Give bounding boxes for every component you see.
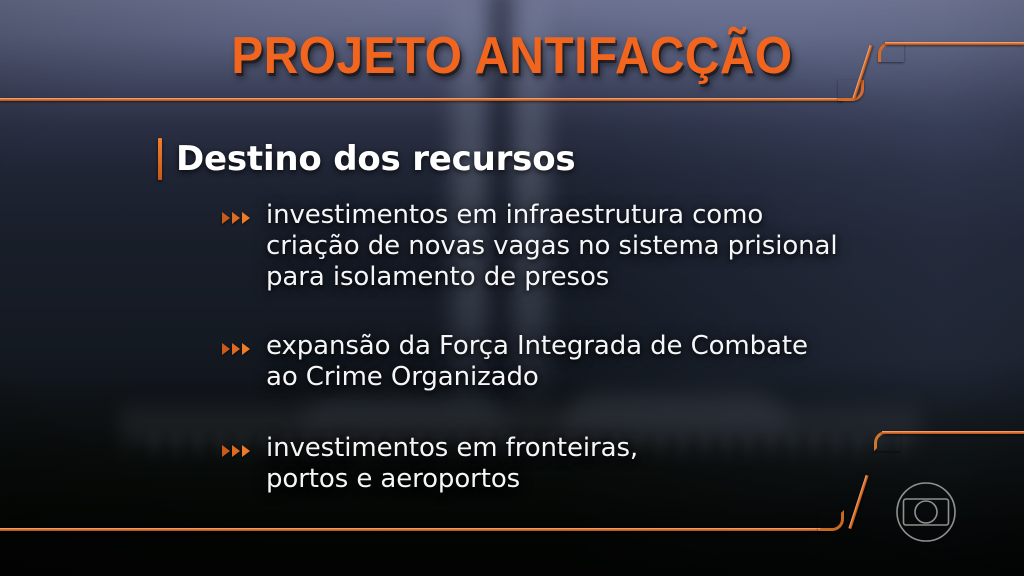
chevron-right-icon bbox=[222, 212, 230, 224]
bottom-rule-left-segment bbox=[0, 528, 822, 531]
list-item-text: investimentos em fronteiras, portos e ae… bbox=[266, 433, 638, 495]
globo-inner-circle bbox=[915, 501, 937, 523]
bullet-list: investimentos em infraestrutura como cri… bbox=[222, 200, 982, 495]
chevron-right-icon bbox=[222, 445, 230, 457]
globo-logo bbox=[895, 481, 957, 543]
broadcast-lower-third-graphic: PROJETO ANTIFACÇÃO Destino dos recursos … bbox=[0, 0, 1024, 576]
triple-chevron-icon bbox=[222, 331, 266, 361]
chevron-right-icon bbox=[232, 445, 240, 457]
list-item: investimentos em fronteiras, portos e ae… bbox=[222, 433, 982, 495]
globo-outer-circle bbox=[897, 483, 955, 541]
chevron-right-icon bbox=[242, 343, 250, 355]
bottom-rule-upper-corner bbox=[874, 431, 900, 451]
bottom-rule-right-segment bbox=[882, 431, 1024, 434]
chevron-right-icon bbox=[232, 212, 240, 224]
subtitle-row: Destino dos recursos bbox=[158, 138, 575, 180]
list-item: investimentos em infraestrutura como cri… bbox=[222, 200, 982, 293]
chevron-right-icon bbox=[222, 343, 230, 355]
list-item: expansão da Força Integrada de Combate a… bbox=[222, 331, 982, 393]
chevron-right-icon bbox=[242, 212, 250, 224]
chevron-right-icon bbox=[232, 343, 240, 355]
triple-chevron-icon bbox=[222, 433, 266, 463]
subtitle-label: Destino dos recursos bbox=[176, 139, 575, 179]
list-item-text: investimentos em infraestrutura como cri… bbox=[266, 200, 838, 293]
bottom-rule-lower-corner bbox=[818, 510, 844, 531]
globo-rectangle bbox=[904, 499, 949, 525]
headline-title: PROJETO ANTIFACÇÃO bbox=[41, 26, 983, 86]
triple-chevron-icon bbox=[222, 200, 266, 230]
list-item-text: expansão da Força Integrada de Combate a… bbox=[266, 331, 808, 393]
chevron-right-icon bbox=[242, 445, 250, 457]
top-rule-left-segment bbox=[0, 98, 843, 101]
subtitle-accent-bar bbox=[158, 138, 162, 180]
